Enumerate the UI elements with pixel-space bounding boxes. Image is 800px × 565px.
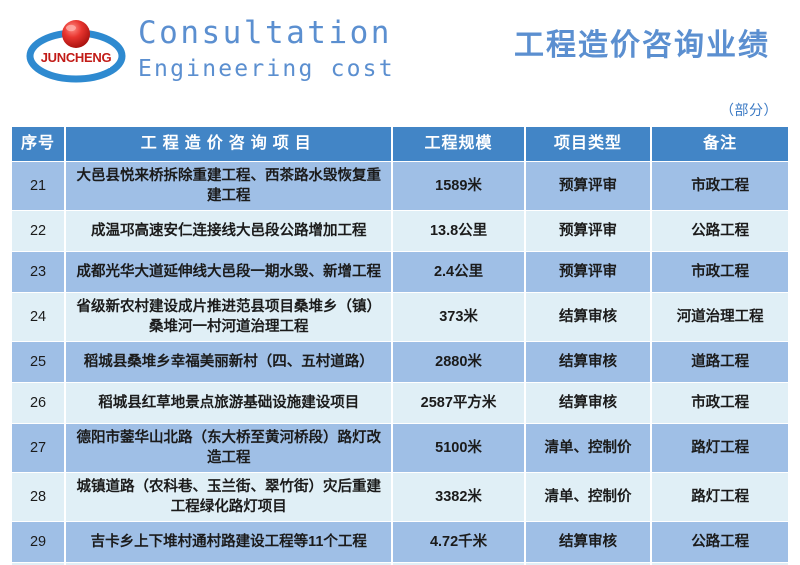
table-row: 24 省级新农村建设成片推进范县项目桑堆乡（镇）桑堆河一村河道治理工程 373米… <box>12 293 788 341</box>
cell-scale: 13.8公里 <box>393 211 523 251</box>
cell-type: 预算评审 <box>526 252 651 292</box>
cell-note: 路灯工程 <box>652 473 788 521</box>
cell-scale: 3382米 <box>393 473 523 521</box>
cell-no: 25 <box>12 342 64 382</box>
cell-scale: 1589米 <box>393 162 523 210</box>
cell-no: 21 <box>12 162 64 210</box>
partial-note: （部分） <box>720 100 778 120</box>
column-header-note: 备注 <box>652 127 788 161</box>
performance-table: 序号 工程造价咨询项目 工程规模 项目类型 备注 21 大邑县悦来桥拆除重建工程… <box>10 126 790 565</box>
brand-wordmark: Consultation Engineering cost <box>138 14 395 84</box>
cell-type: 预算评审 <box>526 211 651 251</box>
table-row: 27 德阳市蓥华山北路（东大桥至黄河桥段）路灯改造工程 5100米 清单、控制价… <box>12 424 788 472</box>
column-header-project: 工程造价咨询项目 <box>66 127 391 161</box>
column-header-type: 项目类型 <box>526 127 651 161</box>
cell-no: 24 <box>12 293 64 341</box>
cell-note: 河道治理工程 <box>652 293 788 341</box>
brand-line-consultation: Consultation <box>138 14 395 52</box>
cell-no: 23 <box>12 252 64 292</box>
cell-scale: 2587平方米 <box>393 383 523 423</box>
cell-note: 公路工程 <box>652 522 788 562</box>
cell-project: 德阳市蓥华山北路（东大桥至黄河桥段）路灯改造工程 <box>66 424 391 472</box>
cell-project: 吉卡乡上下堆村通村路建设工程等11个工程 <box>66 522 391 562</box>
table-row: 25 稻城县桑堆乡幸福美丽新村（四、五村道路） 2880米 结算审核 道路工程 <box>12 342 788 382</box>
cell-project: 城镇道路（农科巷、玉兰街、翠竹街）灾后重建工程绿化路灯项目 <box>66 473 391 521</box>
page-header: JUNCHENG Consultation Engineering cost 工… <box>0 0 800 100</box>
table-body: 21 大邑县悦来桥拆除重建工程、西茶路水毁恢复重建工程 1589米 预算评审 市… <box>12 162 788 565</box>
table-row: 28 城镇道路（农科巷、玉兰街、翠竹街）灾后重建工程绿化路灯项目 3382米 清… <box>12 473 788 521</box>
cell-type: 结算审核 <box>526 522 651 562</box>
table-row: 29 吉卡乡上下堆村通村路建设工程等11个工程 4.72千米 结算审核 公路工程 <box>12 522 788 562</box>
cell-type: 清单、控制价 <box>526 473 651 521</box>
column-header-scale: 工程规模 <box>393 127 523 161</box>
brand-line-engineering-cost: Engineering cost <box>138 54 395 84</box>
cell-no: 28 <box>12 473 64 521</box>
cell-scale: 2880米 <box>393 342 523 382</box>
cell-type: 预算评审 <box>526 162 651 210</box>
cell-type: 结算审核 <box>526 383 651 423</box>
cell-no: 26 <box>12 383 64 423</box>
cell-type: 清单、控制价 <box>526 424 651 472</box>
cell-project: 稻城县桑堆乡幸福美丽新村（四、五村道路） <box>66 342 391 382</box>
cell-no: 27 <box>12 424 64 472</box>
cell-project: 成都光华大道延伸线大邑段一期水毁、新增工程 <box>66 252 391 292</box>
cell-scale: 2.4公里 <box>393 252 523 292</box>
table-row: 23 成都光华大道延伸线大邑段一期水毁、新增工程 2.4公里 预算评审 市政工程 <box>12 252 788 292</box>
cell-scale: 4.72千米 <box>393 522 523 562</box>
logo-svg: JUNCHENG <box>22 12 130 84</box>
table-head: 序号 工程造价咨询项目 工程规模 项目类型 备注 <box>12 127 788 161</box>
cell-no: 22 <box>12 211 64 251</box>
cell-note: 市政工程 <box>652 252 788 292</box>
table-row: 21 大邑县悦来桥拆除重建工程、西茶路水毁恢复重建工程 1589米 预算评审 市… <box>12 162 788 210</box>
cell-note: 路灯工程 <box>652 424 788 472</box>
cell-scale: 373米 <box>393 293 523 341</box>
cell-note: 公路工程 <box>652 211 788 251</box>
page-title: 工程造价咨询业绩 <box>514 20 770 64</box>
column-header-no: 序号 <box>12 127 64 161</box>
cell-note: 市政工程 <box>652 162 788 210</box>
performance-table-container: 序号 工程造价咨询项目 工程规模 项目类型 备注 21 大邑县悦来桥拆除重建工程… <box>10 126 790 565</box>
cell-type: 结算审核 <box>526 293 651 341</box>
cell-no: 29 <box>12 522 64 562</box>
table-header-row: 序号 工程造价咨询项目 工程规模 项目类型 备注 <box>12 127 788 161</box>
cell-scale: 5100米 <box>393 424 523 472</box>
cell-project: 成温邛高速安仁连接线大邑段公路增加工程 <box>66 211 391 251</box>
page-root: JUNCHENG Consultation Engineering cost 工… <box>0 0 800 565</box>
table-row: 26 稻城县红草地景点旅游基础设施建设项目 2587平方米 结算审核 市政工程 <box>12 383 788 423</box>
juncheng-logo-icon: JUNCHENG <box>22 12 130 84</box>
cell-project: 大邑县悦来桥拆除重建工程、西茶路水毁恢复重建工程 <box>66 162 391 210</box>
cell-project: 稻城县红草地景点旅游基础设施建设项目 <box>66 383 391 423</box>
svg-text:JUNCHENG: JUNCHENG <box>41 50 112 65</box>
cell-type: 结算审核 <box>526 342 651 382</box>
cell-note: 市政工程 <box>652 383 788 423</box>
table-row: 22 成温邛高速安仁连接线大邑段公路增加工程 13.8公里 预算评审 公路工程 <box>12 211 788 251</box>
cell-note: 道路工程 <box>652 342 788 382</box>
cell-project: 省级新农村建设成片推进范县项目桑堆乡（镇）桑堆河一村河道治理工程 <box>66 293 391 341</box>
